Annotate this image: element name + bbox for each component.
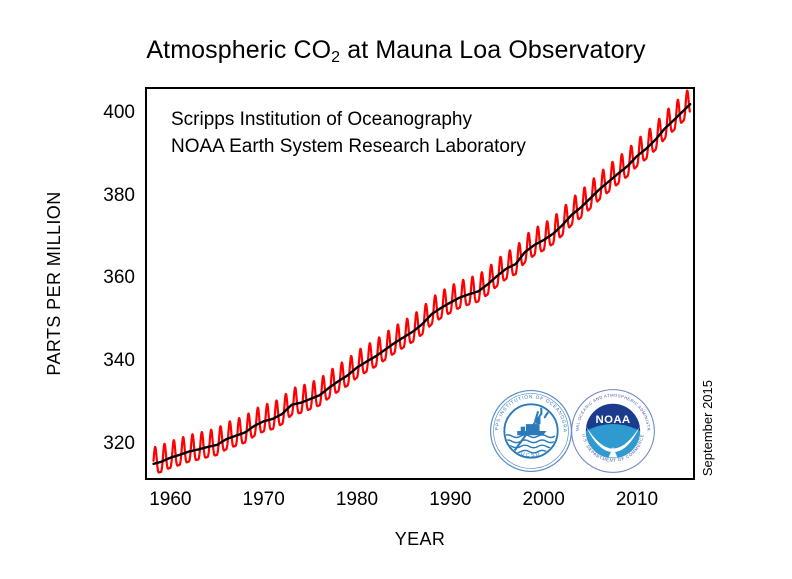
annotation-line-1: Scripps Institution of Oceanography — [171, 106, 526, 133]
noaa-logo: NOAA NATIONAL OCEANIC AND ATMOSPHERIC AD… — [569, 387, 657, 475]
keeling-curve-figure: Atmospheric CO2 at Mauna Loa Observatory… — [0, 0, 792, 579]
scripps-logo: SCRIPPS INSTITUTION OF OCEANOGRAPHY UCSD — [488, 388, 574, 474]
plot-area: Scripps Institution of Oceanography NOAA… — [145, 87, 695, 480]
x-tick-label: 1980 — [317, 489, 397, 511]
y-axis-title: PARTS PER MILLION — [44, 87, 72, 480]
title-tail-text: at Mauna Loa Observatory — [340, 36, 645, 64]
x-tick-label: 2010 — [597, 489, 677, 511]
y-tick-label: 380 — [89, 185, 135, 207]
x-tick-label: 1960 — [130, 489, 210, 511]
plot-inner: Scripps Institution of Oceanography NOAA… — [147, 89, 693, 478]
scripps-seal-icon: SCRIPPS INSTITUTION OF OCEANOGRAPHY UCSD — [488, 388, 574, 474]
x-axis-title: YEAR — [145, 529, 695, 550]
y-tick-label: 360 — [89, 267, 135, 289]
x-tick-label: 2000 — [504, 489, 584, 511]
date-stamp: September 2015 — [700, 380, 715, 476]
x-tick-label: 1970 — [224, 489, 304, 511]
y-tick-label: 340 — [89, 350, 135, 372]
x-tick-label: 1990 — [410, 489, 490, 511]
y-tick-label: 320 — [89, 433, 135, 455]
title-main-text: Atmospheric CO — [146, 36, 331, 64]
annotation-line-2: NOAA Earth System Research Laboratory — [171, 133, 526, 160]
page-title: Atmospheric CO2 at Mauna Loa Observatory — [0, 36, 792, 67]
noaa-wordmark: NOAA — [595, 414, 630, 426]
title-subscript: 2 — [331, 49, 340, 66]
y-tick-label: 400 — [89, 102, 135, 124]
source-annotation: Scripps Institution of Oceanography NOAA… — [171, 106, 526, 160]
noaa-seal-icon: NOAA NATIONAL OCEANIC AND ATMOSPHERIC AD… — [569, 387, 657, 475]
